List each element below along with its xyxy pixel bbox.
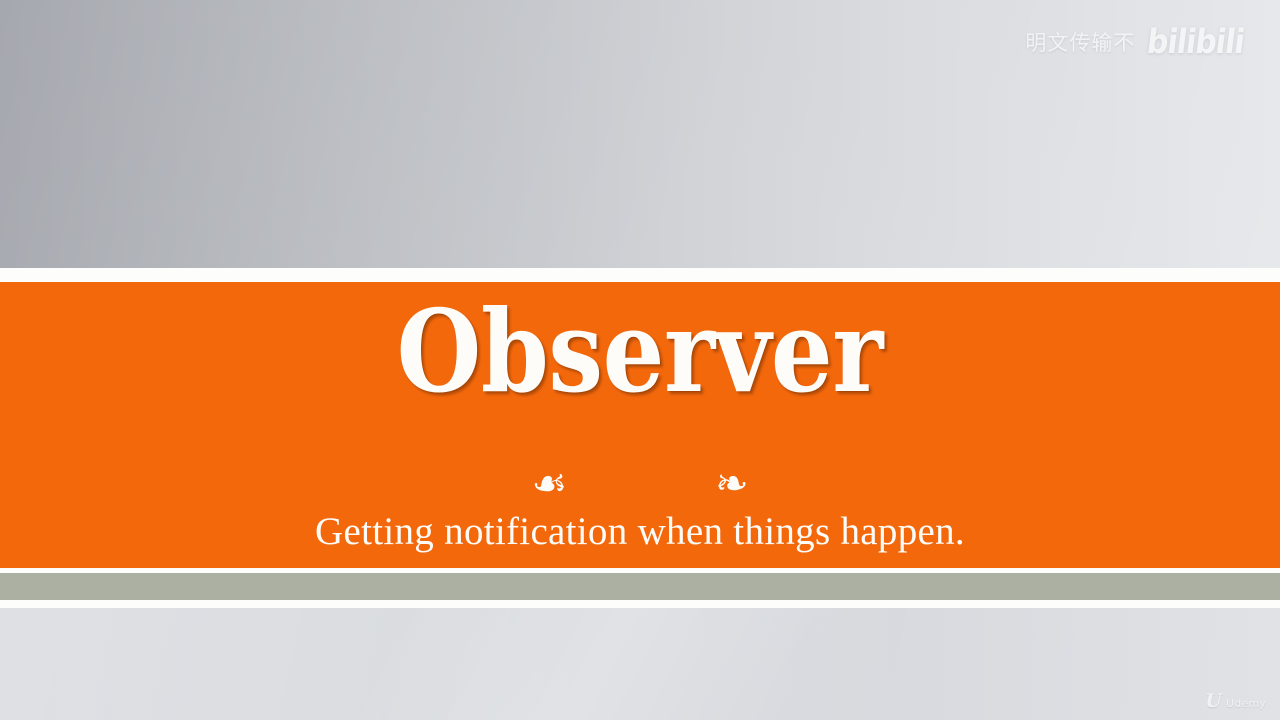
separator-gap-top [0,268,1280,282]
title-container: Observer [0,292,1280,412]
presentation-slide: Observer ☙ ❧ Getting notification when t… [0,0,1280,720]
flourish-right-icon: ❧ [715,462,749,506]
slide-background-bottom [0,608,1280,720]
page-subtitle: Getting notification when things happen. [315,508,965,556]
separator-gap-bottom [0,600,1280,608]
flourish-left-icon: ☙ [531,462,567,506]
page-title: Observer [397,292,883,412]
subtitle-container: Getting notification when things happen. [0,508,1280,556]
accent-band-green [0,573,1280,600]
slide-background-top [0,0,1280,268]
ornament-divider: ☙ ❧ [0,462,1280,508]
